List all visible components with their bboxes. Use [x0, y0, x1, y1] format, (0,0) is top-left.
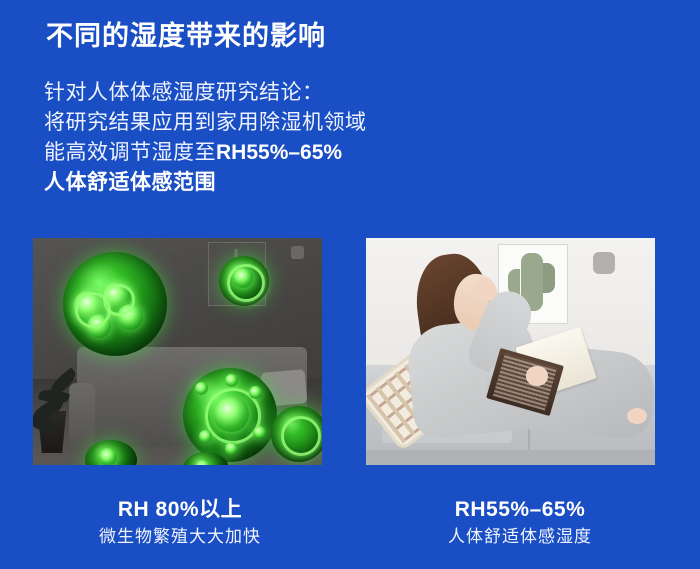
microbe-blob [271, 406, 322, 462]
wall-speaker [593, 252, 615, 274]
caption-high-humidity: RH 80%以上 微生物繁殖大大加快 [20, 496, 340, 550]
woman-hand [526, 366, 548, 386]
photo-comfort-humidity [366, 238, 655, 465]
body-line-3-highlight: RH55%–65% [216, 141, 342, 164]
caption-title: RH 80%以上 [20, 496, 340, 524]
body-line-4: 人体舒适体感范围 [44, 168, 367, 198]
body-copy: 针对人体体感湿度研究结论： 将研究结果应用到家用除湿机领域 能高效调节湿度至RH… [44, 78, 367, 198]
page-title: 不同的湿度带来的影响 [46, 16, 326, 56]
caption-subtitle: 人体舒适体感湿度 [360, 524, 680, 550]
body-line-2: 将研究结果应用到家用除湿机领域 [44, 108, 367, 138]
sofa-armrest [69, 383, 95, 449]
microbe-blob [183, 368, 277, 462]
sofa-base [366, 450, 655, 465]
bright-room-scene [366, 238, 655, 465]
body-line-3: 能高效调节湿度至RH55%–65% [44, 138, 367, 168]
caption-comfort-humidity: RH55%–65% 人体舒适体感湿度 [360, 496, 680, 550]
microbe-blob [219, 256, 269, 306]
body-line-1: 针对人体体感湿度研究结论： [44, 78, 367, 108]
body-line-3-prefix: 能高效调节湿度至 [44, 141, 216, 164]
woman-foot [627, 408, 647, 424]
humidity-comparison-poster: 不同的湿度带来的影响 针对人体体感湿度研究结论： 将研究结果应用到家用除湿机领域… [0, 0, 700, 569]
wall-speaker [291, 246, 304, 259]
photo-high-humidity [33, 238, 322, 465]
microbe-blob [63, 252, 167, 356]
caption-title: RH55%–65% [360, 496, 680, 524]
dark-room-scene [33, 238, 322, 465]
caption-subtitle: 微生物繁殖大大加快 [20, 524, 340, 550]
